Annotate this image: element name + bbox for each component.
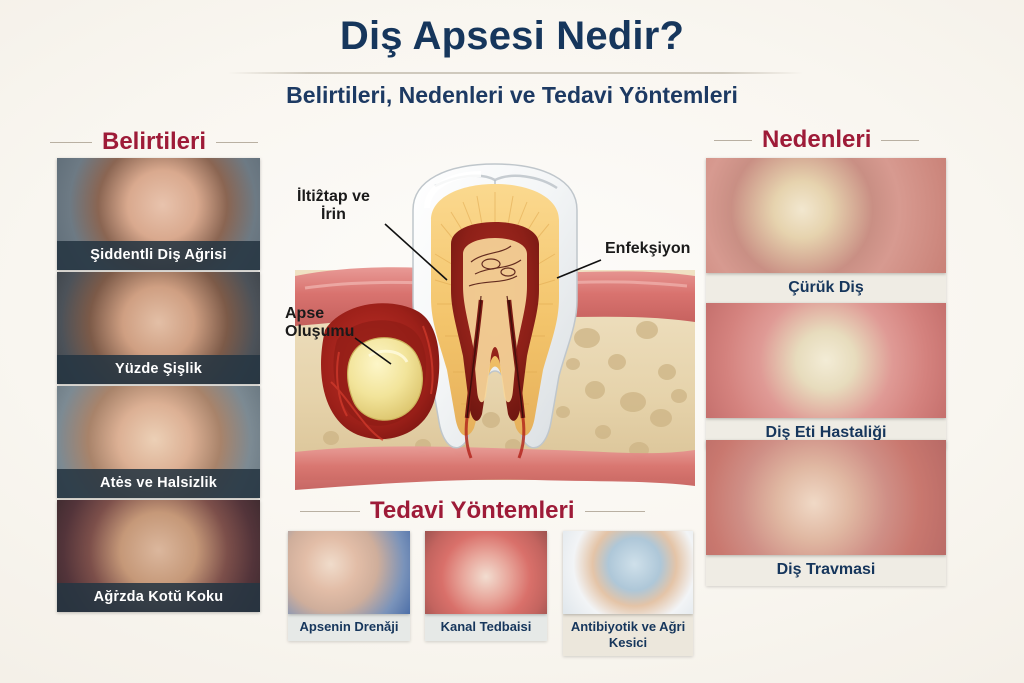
cause-card-dental-trauma[interactable]: Diş Travmasi bbox=[706, 440, 946, 586]
treatment-card-drainage[interactable]: Apsenin Drenǎji bbox=[288, 531, 410, 641]
symptom-card-label: Ağṙzda Kotŭ Koku bbox=[57, 583, 260, 612]
symptom-card-facial-swelling[interactable]: Yüzde Şişlik bbox=[57, 272, 260, 384]
section-heading-causes: Nedenleri bbox=[714, 126, 919, 154]
page-subtitle: Belirtileri, Nedenleri ve Tedavi Yönteml… bbox=[0, 82, 1024, 109]
symptom-photo: Ağṙzda Kotŭ Koku bbox=[57, 500, 260, 612]
treatment-card-root-canal[interactable]: Kanal Tedbaisi bbox=[425, 531, 547, 641]
infographic-canvas: Diş Apsesi Nedir? Belirtileri, Nedenleri… bbox=[0, 0, 1024, 683]
dental-trauma-icon bbox=[706, 440, 946, 555]
section-heading-treatments-label: Tedavi Yöntemleri bbox=[370, 497, 575, 525]
heading-rule-right bbox=[585, 511, 645, 512]
heading-rule-right bbox=[216, 142, 258, 143]
treatment-card-label: Kanal Tedbaisi bbox=[425, 614, 547, 641]
annotation-inflammation: İltiẑtap ve İrin bbox=[297, 188, 370, 225]
treatment-photo bbox=[288, 531, 410, 614]
symptom-card-label: Şiddentli Diş Ağrisi bbox=[57, 241, 260, 270]
title-divider bbox=[228, 72, 803, 74]
section-heading-causes-label: Nedenleri bbox=[762, 126, 871, 154]
heading-rule-right bbox=[881, 140, 919, 141]
treatment-card-label: Antibiyotik ve Ağri Kesici bbox=[563, 614, 693, 656]
tooth-abscess-diagram: İltiẑtap ve İrin Apse Oluşumu Enfekşiyon bbox=[295, 150, 695, 500]
symptom-card-label: Atės ve Halsizlik bbox=[57, 469, 260, 498]
heading-rule-left bbox=[50, 142, 92, 143]
dentist-icon bbox=[563, 531, 693, 614]
symptom-photo: Atės ve Halsizlik bbox=[57, 386, 260, 498]
abscess-drainage-icon bbox=[288, 531, 410, 614]
symptom-photo: Yüzde Şişlik bbox=[57, 272, 260, 384]
treatment-card-antibiotics[interactable]: Antibiyotik ve Ağri Kesici bbox=[563, 531, 693, 656]
treatment-photo bbox=[563, 531, 693, 614]
heading-rule-left bbox=[300, 511, 360, 512]
treatment-card-label: Apsenin Drenǎji bbox=[288, 614, 410, 641]
cause-photo bbox=[706, 303, 946, 418]
inflamed-gums-icon bbox=[706, 303, 946, 418]
cause-card-label: Diş Travmasi bbox=[706, 555, 946, 586]
cause-card-label: Çürŭk Diş bbox=[706, 273, 946, 304]
cause-card-tooth-decay[interactable]: Çürŭk Diş bbox=[706, 158, 946, 304]
treatment-photo bbox=[425, 531, 547, 614]
cause-photo bbox=[706, 440, 946, 555]
symptom-card-severe-toothache[interactable]: Şiddentli Diş Ağrisi bbox=[57, 158, 260, 270]
section-heading-symptoms: Belirtileri bbox=[50, 128, 258, 156]
section-heading-symptoms-label: Belirtileri bbox=[102, 128, 206, 156]
heading-rule-left bbox=[714, 140, 752, 141]
cause-card-gum-disease[interactable]: Diş Eti Hastaliği bbox=[706, 303, 946, 449]
annotation-abscess: Apse Oluşumu bbox=[285, 305, 354, 342]
section-heading-treatments: Tedavi Yöntemleri bbox=[300, 497, 645, 525]
cause-photo bbox=[706, 158, 946, 273]
symptom-card-fever-fatigue[interactable]: Atės ve Halsizlik bbox=[57, 386, 260, 498]
page-title: Diş Apsesi Nedir? bbox=[0, 14, 1024, 59]
annotation-infection: Enfekşiyon bbox=[605, 240, 690, 258]
symptom-card-label: Yüzde Şişlik bbox=[57, 355, 260, 384]
root-canal-icon bbox=[425, 531, 547, 614]
symptom-card-bad-breath[interactable]: Ağṙzda Kotŭ Koku bbox=[57, 500, 260, 612]
decayed-molar-icon bbox=[706, 158, 946, 273]
symptom-photo: Şiddentli Diş Ağrisi bbox=[57, 158, 260, 270]
